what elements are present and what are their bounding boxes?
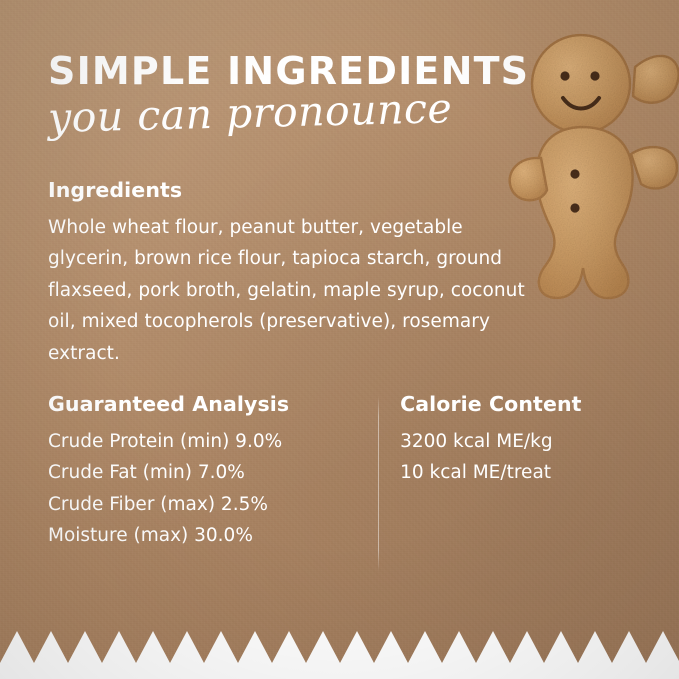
ingredients-body: Whole wheat flour, peanut butter, vegeta… (48, 212, 528, 369)
calorie-content-line: 3200 kcal ME/kg (400, 426, 638, 457)
ingredients-title: Ingredients (48, 178, 528, 202)
product-info-panel: SIMPLE INGREDIENTS you can pronounce Ing… (0, 0, 679, 679)
guaranteed-analysis-line: Moisture (max) 30.0% (48, 520, 362, 551)
guaranteed-analysis-title: Guaranteed Analysis (48, 392, 362, 416)
headline: SIMPLE INGREDIENTS you can pronounce (48, 52, 518, 141)
calorie-content-line: 10 kcal ME/treat (400, 457, 638, 488)
zigzag-border-icon (0, 619, 679, 679)
analysis-columns: Guaranteed Analysis Crude Protein (min) … (48, 392, 638, 552)
guaranteed-analysis-section: Guaranteed Analysis Crude Protein (min) … (48, 392, 362, 552)
calorie-content-section: Calorie Content 3200 kcal ME/kg 10 kcal … (362, 392, 638, 552)
guaranteed-analysis-line: Crude Fiber (max) 2.5% (48, 489, 362, 520)
headline-line-2: you can pronounce (47, 85, 518, 142)
guaranteed-analysis-line: Crude Fat (min) 7.0% (48, 457, 362, 488)
guaranteed-analysis-line: Crude Protein (min) 9.0% (48, 426, 362, 457)
ingredients-section: Ingredients Whole wheat flour, peanut bu… (48, 178, 528, 369)
calorie-content-title: Calorie Content (400, 392, 638, 416)
